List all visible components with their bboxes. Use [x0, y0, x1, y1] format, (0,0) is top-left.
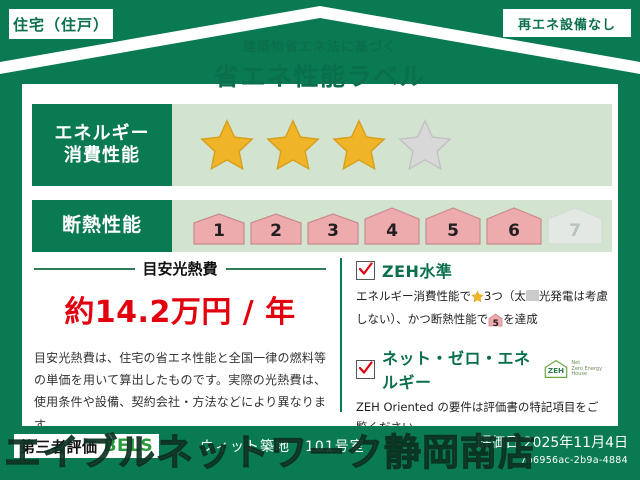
- zeh-item-net-zero: ネット・ゼロ・エネルギー ZEH Net Zero Energy House Z…: [356, 345, 608, 437]
- evaluation-info: 評価日 2025年11月4日 7b6956ac-2b9a-4884: [477, 432, 628, 466]
- title-subtitle: 建築物省エネ法に基づく: [0, 36, 640, 55]
- insulation-level-badge: 1: [192, 212, 246, 246]
- insulation-level-scale: 1234567: [172, 206, 604, 246]
- svg-text:ZEH: ZEH: [548, 366, 564, 375]
- insulation-level-value: 3: [306, 221, 360, 241]
- utility-cost-block: 目安光熱費 約14.2万円 / 年 目安光熱費は、住宅の省エネ性能と全国一律の燃…: [34, 258, 326, 436]
- inline-star-icon: [471, 289, 484, 309]
- star-empty-icon: [396, 117, 454, 173]
- energy-performance-label: エネルギー 消費性能: [32, 104, 172, 186]
- star-rating: [172, 117, 454, 173]
- insulation-level-badge: 3: [306, 212, 360, 246]
- utility-cost-heading-text: 目安光熱費: [143, 258, 218, 279]
- star-filled-icon: [264, 117, 322, 173]
- utility-cost-heading: 目安光熱費: [34, 258, 326, 279]
- star-filled-icon: [330, 117, 388, 173]
- checkbox-checked-icon: [356, 261, 375, 280]
- zeh-standard-heading: ZEH水準: [356, 258, 608, 282]
- insulation-level-badge: 5: [424, 206, 482, 246]
- inline-insulation-badge: 5: [488, 313, 503, 333]
- zeh-desc-part1: エネルギー消費性能で: [356, 289, 471, 303]
- energy-label-line2: 消費性能: [64, 145, 140, 168]
- energy-performance-label: 住宅（住戸） 再エネ設備なし 建築物省エネ法に基づく 省エネ性能ラベル エネルギ…: [0, 0, 640, 480]
- zeh-standard-description: エネルギー消費性能で3つ（太光発電は考慮しない）、かつ断熱性能で5を達成: [356, 286, 608, 333]
- bels-label-en: BELS: [104, 436, 154, 456]
- zeh-desc-part4: を達成: [503, 312, 538, 326]
- inline-badge-value: 5: [488, 317, 503, 333]
- insulation-level-value: 2: [249, 221, 303, 241]
- insulation-level-value: 6: [485, 221, 543, 241]
- zeh-item-standard: ZEH水準 エネルギー消費性能で3つ（太光発電は考慮しない）、かつ断熱性能で5を…: [356, 258, 608, 333]
- energy-performance-value: [172, 104, 612, 186]
- utility-cost-note: 目安光熱費は、住宅の省エネ性能と全国一律の燃料等の単価を用いて算出したものです。…: [34, 347, 326, 436]
- insulation-level-badge: 2: [249, 212, 303, 246]
- insulation-level-value: 5: [424, 221, 482, 241]
- renewable-equipment-tag: 再エネ設備なし: [502, 8, 632, 38]
- insulation-performance-value: 1234567: [172, 200, 612, 252]
- column-divider: [340, 258, 342, 412]
- title-main: 省エネ性能ラベル: [0, 57, 640, 93]
- evaluation-id: 7b6956ac-2b9a-4884: [477, 455, 628, 466]
- heading-rule-left: [34, 268, 135, 270]
- heading-rule-right: [226, 268, 327, 270]
- zeh-net-zero-title: ネット・ゼロ・エネルギー: [382, 345, 534, 393]
- energy-performance-row: エネルギー 消費性能: [32, 104, 612, 186]
- insulation-level-value: 7: [546, 221, 604, 241]
- insulation-level-badge: 7: [546, 206, 604, 246]
- insulation-level-badge: 6: [485, 206, 543, 246]
- zeh-standard-title: ZEH水準: [382, 258, 452, 282]
- zeh-net-zero-heading: ネット・ゼロ・エネルギー ZEH Net Zero Energy House: [356, 345, 608, 393]
- label-title: 建築物省エネ法に基づく 省エネ性能ラベル: [0, 36, 640, 93]
- zeh-desc-part2: 3つ（太: [484, 289, 526, 303]
- building-name: ウィット築地 101号室: [200, 436, 365, 456]
- utility-cost-amount: 約14.2万円 / 年: [34, 287, 326, 331]
- bels-certification-tag: 第三者評価 BELS: [14, 434, 159, 458]
- redacted-character: [526, 290, 539, 301]
- insulation-level-value: 1: [192, 221, 246, 241]
- evaluation-date: 評価日 2025年11月4日: [477, 432, 628, 452]
- insulation-performance-label: 断熱性能: [32, 200, 172, 252]
- checkbox-checked-icon: [356, 360, 375, 379]
- insulation-level-badge: 4: [363, 206, 421, 246]
- label-footer: 第三者評価 BELS ウィット築地 101号室 評価日 2025年11月4日 7…: [0, 426, 640, 480]
- insulation-level-value: 4: [363, 221, 421, 241]
- zeh-logo-subtext: Net Zero Energy House: [571, 361, 608, 378]
- bels-label-ja: 第三者評価: [20, 436, 98, 457]
- star-filled-icon: [198, 117, 256, 173]
- insulation-performance-row: 断熱性能 1234567: [32, 200, 612, 252]
- zeh-house-logo-icon: ZEH Net Zero Energy House: [543, 356, 608, 382]
- zeh-block: ZEH水準 エネルギー消費性能で3つ（太光発電は考慮しない）、かつ断熱性能で5を…: [356, 258, 608, 450]
- zeh-logo-sub2: Zero Energy House: [571, 366, 602, 378]
- energy-label-line1: エネルギー: [55, 123, 150, 146]
